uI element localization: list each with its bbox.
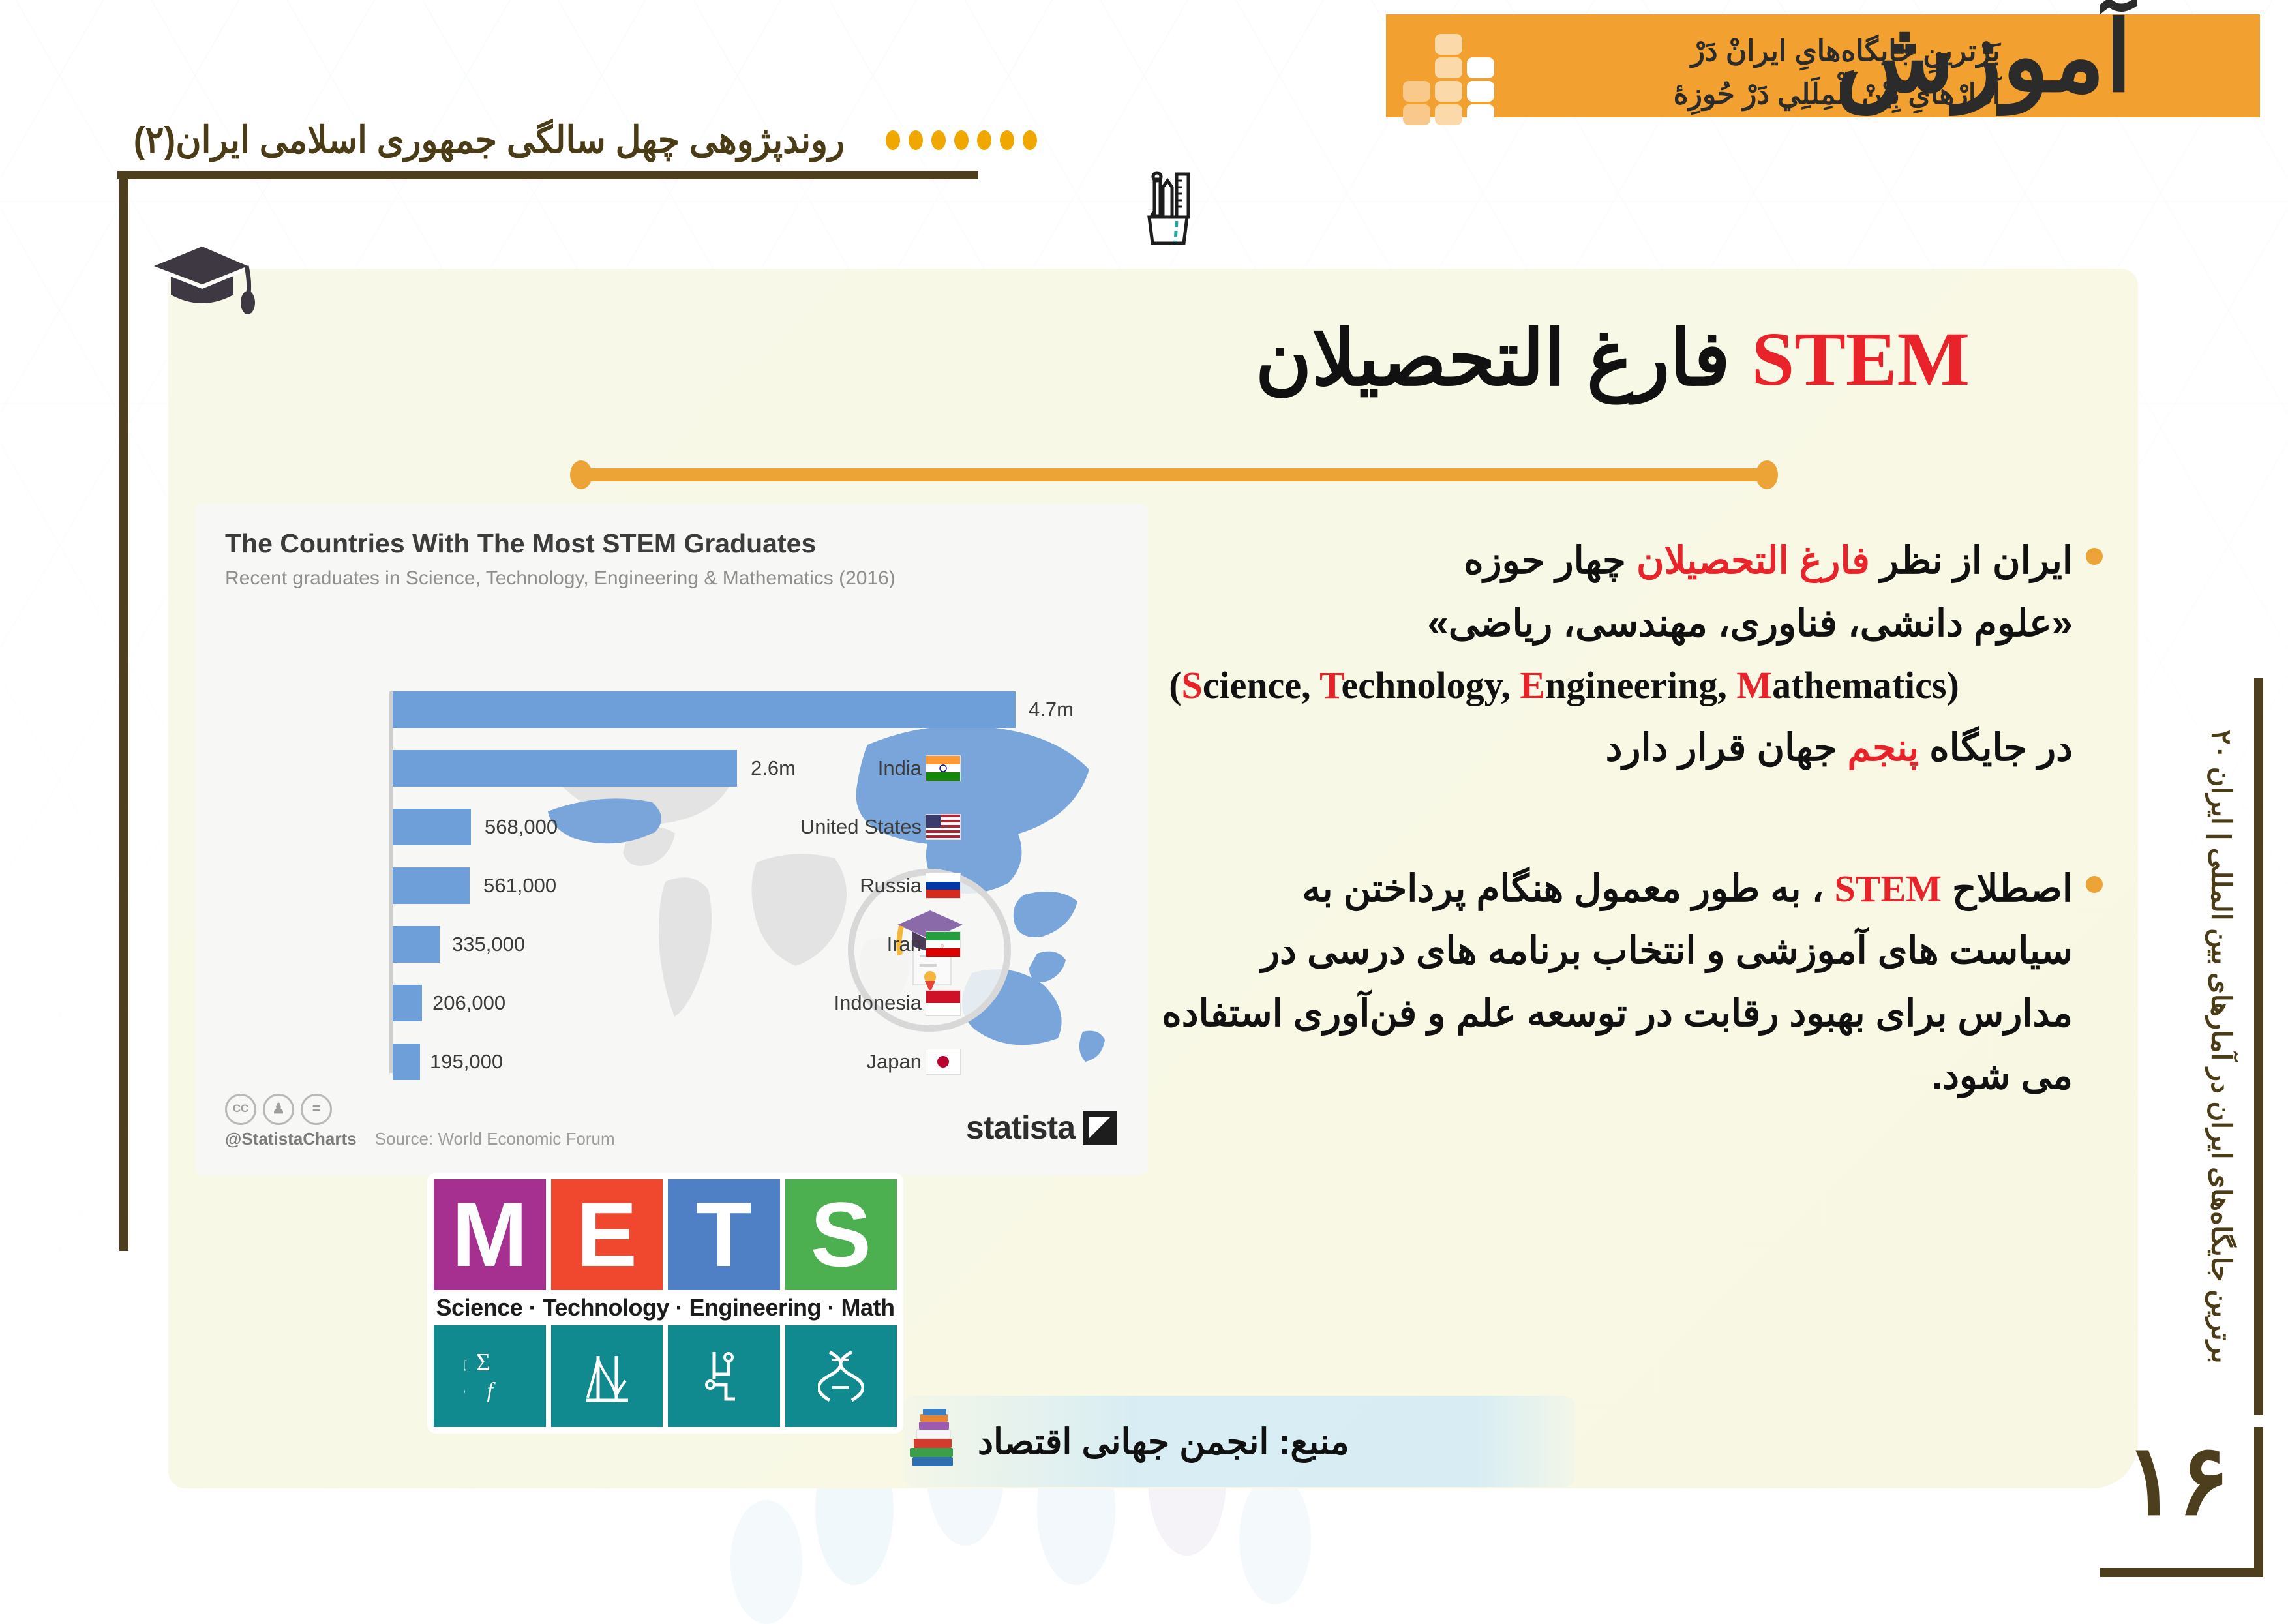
chart-category-label: Russia [752, 874, 922, 897]
source-footer: منبع: انجمن جهانی اقتصاد [903, 1396, 1575, 1487]
statista-handle: @StatistaCharts [225, 1129, 357, 1149]
russia-flag [926, 873, 961, 899]
svg-text:∞: ∞ [464, 1379, 466, 1402]
chart-bar [393, 1044, 420, 1080]
bullet-marker [2086, 876, 2103, 893]
document-series-title: روندپژوهی چهل سالگی جمهوری اسلامی ایران(… [134, 119, 845, 162]
stem-icon-row: πΣ∞f [434, 1325, 897, 1427]
united-states-flag [926, 814, 961, 840]
page-title-fa: فارغ التحصیلان [1256, 316, 1730, 402]
chart-bar [393, 809, 471, 845]
bullet-1-seg-2: چهار حوزه [1464, 539, 1636, 582]
page-title-en: STEM [1752, 316, 1970, 402]
stem-letter-m: M [434, 1179, 546, 1290]
decor-blob-6 [730, 1500, 802, 1624]
svg-text:Σ: Σ [476, 1349, 490, 1376]
title-divider [574, 468, 1774, 481]
title-underline [117, 171, 978, 179]
title-dot [954, 130, 969, 150]
bullet-1-line-3: (Science, Technology, Engineering, Mathe… [1055, 654, 2073, 717]
svg-text:۞: ۞ [941, 942, 944, 948]
bullet-2-line-2: سیاست های آموزشی و انتخاب برنامه های درس… [1055, 920, 2073, 982]
india-flag [926, 755, 961, 781]
decor-blob-5 [1239, 1474, 1311, 1604]
source-label: منبع: انجمن جهانی اقتصاد [978, 1421, 1349, 1462]
title-dot [977, 130, 991, 150]
bullet-marker [2086, 548, 2103, 565]
page-title: STEM فارغ التحصیلان [861, 313, 1970, 406]
chart-row: China ★★★★★ 4.7m [225, 691, 1125, 728]
logo-block [1435, 81, 1462, 102]
indonesia-flag [926, 990, 961, 1016]
title-dot [886, 130, 900, 150]
bullet-1-line4-b: جهان قرار دارد [1606, 727, 1848, 769]
chart-bar [393, 867, 470, 904]
left-vertical-rule [119, 175, 128, 1251]
logo-block [1403, 104, 1430, 125]
chart-subtitle: Recent graduates in Science, Technology,… [225, 567, 896, 590]
chart-source: Source: World Economic Forum [375, 1129, 615, 1149]
cc-icon: CC [225, 1094, 256, 1125]
bullet-2-seg-2: ، به طور معمول هنگام پرداختن به [1302, 867, 1834, 910]
chart-category-label: United States [752, 815, 922, 839]
chart-value-label: 195,000 [430, 1050, 503, 1074]
svg-text:π: π [464, 1351, 467, 1376]
bullet-1-highlight: فارغ التحصیلان [1636, 539, 1870, 582]
statista-chart-card: The Countries With The Most STEM Graduat… [196, 504, 1148, 1175]
page-number-box: ۱۶ [2100, 1427, 2263, 1577]
bullet-1-line-1: ایران از نظر فارغ التحصیلان چهار حوزه [1055, 530, 2073, 592]
chart-row: Japan 195,000 [225, 1044, 1125, 1080]
chart-category-label: Iran [752, 933, 922, 956]
chart-row: Indonesia 206,000 [225, 985, 1125, 1021]
stem-tagline: Science · Technology · Engineering · Mat… [434, 1294, 897, 1321]
page-number: ۱۶ [2124, 1431, 2229, 1529]
bullet-1-line-4: در جایگاه پنجم جهان قرار دارد [1055, 717, 2073, 779]
bullet-1-seg-1: ایران از نظر [1870, 539, 2073, 582]
chart-row: India 2.6m [225, 750, 1125, 787]
title-dot [931, 130, 946, 150]
chart-category-label: Indonesia [752, 991, 922, 1015]
chart-value-label: 206,000 [432, 991, 505, 1015]
header-banner: آموزش بَرْترینِ جایگاه‌هایِ ایرانْ دَرْ … [1386, 14, 2260, 117]
chart-row: United States 568,000 [225, 809, 1125, 845]
stem-letter-s: S [785, 1179, 897, 1290]
bullet-2-line-4: می شود. [1055, 1045, 2073, 1107]
bullet-1-line-2: «علوم دانشی، فناوری، مهندسی، ریاضی» [1055, 592, 2073, 655]
chart-footer: CC ♟ = @StatistaCharts Source: World Eco… [225, 1094, 615, 1149]
bullet-2-highlight: STEM [1835, 867, 1942, 910]
chart-title: The Countries With The Most STEM Graduat… [225, 528, 816, 559]
iran-flag: ۞ [926, 931, 961, 957]
japan-flag [926, 1049, 961, 1075]
stem-letter-row: S T E M [434, 1179, 897, 1290]
bullet-2-line-1: اصطلاح STEM ، به طور معمول هنگام پرداختن… [1055, 858, 2073, 920]
chart-bar [393, 985, 422, 1021]
chart-row: Russia 561,000 [225, 867, 1125, 904]
chart-bar [393, 750, 737, 787]
math-icon: πΣ∞f [434, 1325, 546, 1427]
bullet-1-paren-open: ( [1169, 664, 1181, 706]
chart-plot-area: China ★★★★★ 4.7m India 2.6m United State… [225, 627, 1125, 1084]
bullet-1-line4-a: در جایگاه [1919, 727, 2073, 769]
chart-value-label: 2.6m [751, 757, 796, 780]
logo-block [1435, 34, 1462, 55]
side-label: برترین جایگاه‌های ایران در آمارهای بین ا… [2206, 730, 2238, 1364]
chart-bar [393, 691, 1016, 728]
stem-letter-t: T [668, 1179, 780, 1290]
nd-icon: = [301, 1094, 332, 1125]
banner-subtitle: بَرْترینِ جایگاه‌هایِ ایرانْ دَرْ آمارْه… [1479, 30, 2000, 116]
side-label-wrap: برترین جایگاه‌های ایران در آمارهای بین ا… [2195, 678, 2248, 1415]
banner-line-2: آمارْهایِ بِیْنْ أَلْمِلَلِي دَرْ حُوزِه… [1479, 73, 2000, 116]
title-dot [1000, 130, 1014, 150]
bullet-list: ایران از نظر فارغ التحصیلان چهار حوزه «ع… [1055, 530, 2073, 1165]
bullet-2-seg-1: اصطلاح [1942, 867, 2073, 910]
logo-block [1435, 57, 1462, 78]
banner-line-1: بَرْترینِ جایگاه‌هایِ ایرانْ دَرْ [1479, 30, 2000, 73]
bullet-2-line-3: مدارس برای بهبود رقابت در توسعه علم و فن… [1055, 982, 2073, 1045]
bullet-item-1: ایران از نظر فارغ التحصیلان چهار حوزه «ع… [1055, 530, 2073, 779]
bridge-icon [551, 1325, 663, 1427]
title-dot [909, 130, 923, 150]
stem-logo: S T E M Science · Technology · Engineeri… [427, 1173, 903, 1434]
chart-category-label: Japan [752, 1050, 922, 1074]
dna-icon [785, 1325, 897, 1427]
bullet-item-2: اصطلاح STEM ، به طور معمول هنگام پرداختن… [1055, 858, 2073, 1107]
chart-row: Iran ۞ 335,000 [225, 926, 1125, 963]
chart-value-label: 568,000 [485, 815, 558, 839]
by-icon: ♟ [263, 1094, 294, 1125]
title-dot [1023, 130, 1037, 150]
circuit-icon [668, 1325, 780, 1427]
license-icons: CC ♟ = [225, 1094, 615, 1125]
document-series-title-row: روندپژوهی چهل سالگی جمهوری اسلامی ایران(… [111, 98, 978, 183]
chart-value-label: 335,000 [452, 933, 525, 956]
title-dots [886, 130, 1037, 150]
chart-bar [393, 926, 440, 963]
graduation-cap-icon [149, 240, 260, 328]
svg-text:f: f [487, 1379, 496, 1403]
chart-value-label: 561,000 [483, 874, 556, 897]
bullet-1-line4-highlight: پنجم [1847, 727, 1919, 769]
bullet-1-paren-close: ) [1946, 664, 1959, 706]
pencil-cup-icon [1136, 166, 1196, 248]
right-vertical-rule [2254, 678, 2263, 1415]
books-icon [903, 1409, 961, 1474]
stem-letter-e: E [551, 1179, 663, 1290]
logo-block [1435, 104, 1462, 125]
logo-block [1403, 81, 1430, 102]
